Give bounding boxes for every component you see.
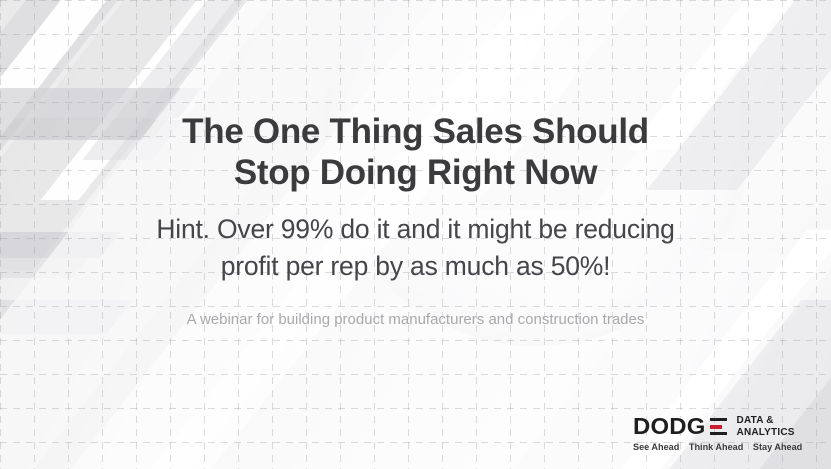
tagline-item-think-ahead: Think Ahead <box>689 442 743 453</box>
tagline-item-see-ahead: See Ahead <box>633 442 679 453</box>
dodge-logo: DODG DATA & ANALYTICS See Ahead Think Ah… <box>633 415 809 453</box>
page-title-line-1: The One Thing Sales Should <box>182 112 649 151</box>
e-bar-top <box>710 418 727 421</box>
tagline-item-stay-ahead: Stay Ahead <box>753 442 802 453</box>
page-title-line-2: Stop Doing Right Now <box>234 153 597 192</box>
e-bar-bottom <box>710 432 727 435</box>
dodge-logo-mark: DODG DATA & ANALYTICS <box>633 415 795 438</box>
dodge-wordmark: DODG <box>633 415 706 438</box>
page-subtitle-line-1: Hint. Over 99% do it and it might be red… <box>156 214 674 244</box>
three-bar-e-icon <box>710 418 727 435</box>
page-subtitle: Hint. Over 99% do it and it might be red… <box>66 211 766 285</box>
page-title: The One Thing Sales Should Stop Doing Ri… <box>86 111 746 193</box>
dodge-lockup-line-1: DATA & <box>737 415 774 426</box>
page-subtitle-line-2: profit per rep by as much as 50%! <box>221 251 611 281</box>
e-bar-middle-red <box>710 425 722 429</box>
dodge-lockup-line-2: ANALYTICS <box>737 427 795 438</box>
webinar-title-slide: The One Thing Sales Should Stop Doing Ri… <box>0 0 831 469</box>
slide-content: The One Thing Sales Should Stop Doing Ri… <box>0 0 831 469</box>
page-kicker: A webinar for building product manufactu… <box>46 310 786 330</box>
dodge-logo-lockup: DATA & ANALYTICS <box>737 415 795 438</box>
dodge-logo-tagline: See Ahead Think Ahead Stay Ahead <box>633 442 802 453</box>
